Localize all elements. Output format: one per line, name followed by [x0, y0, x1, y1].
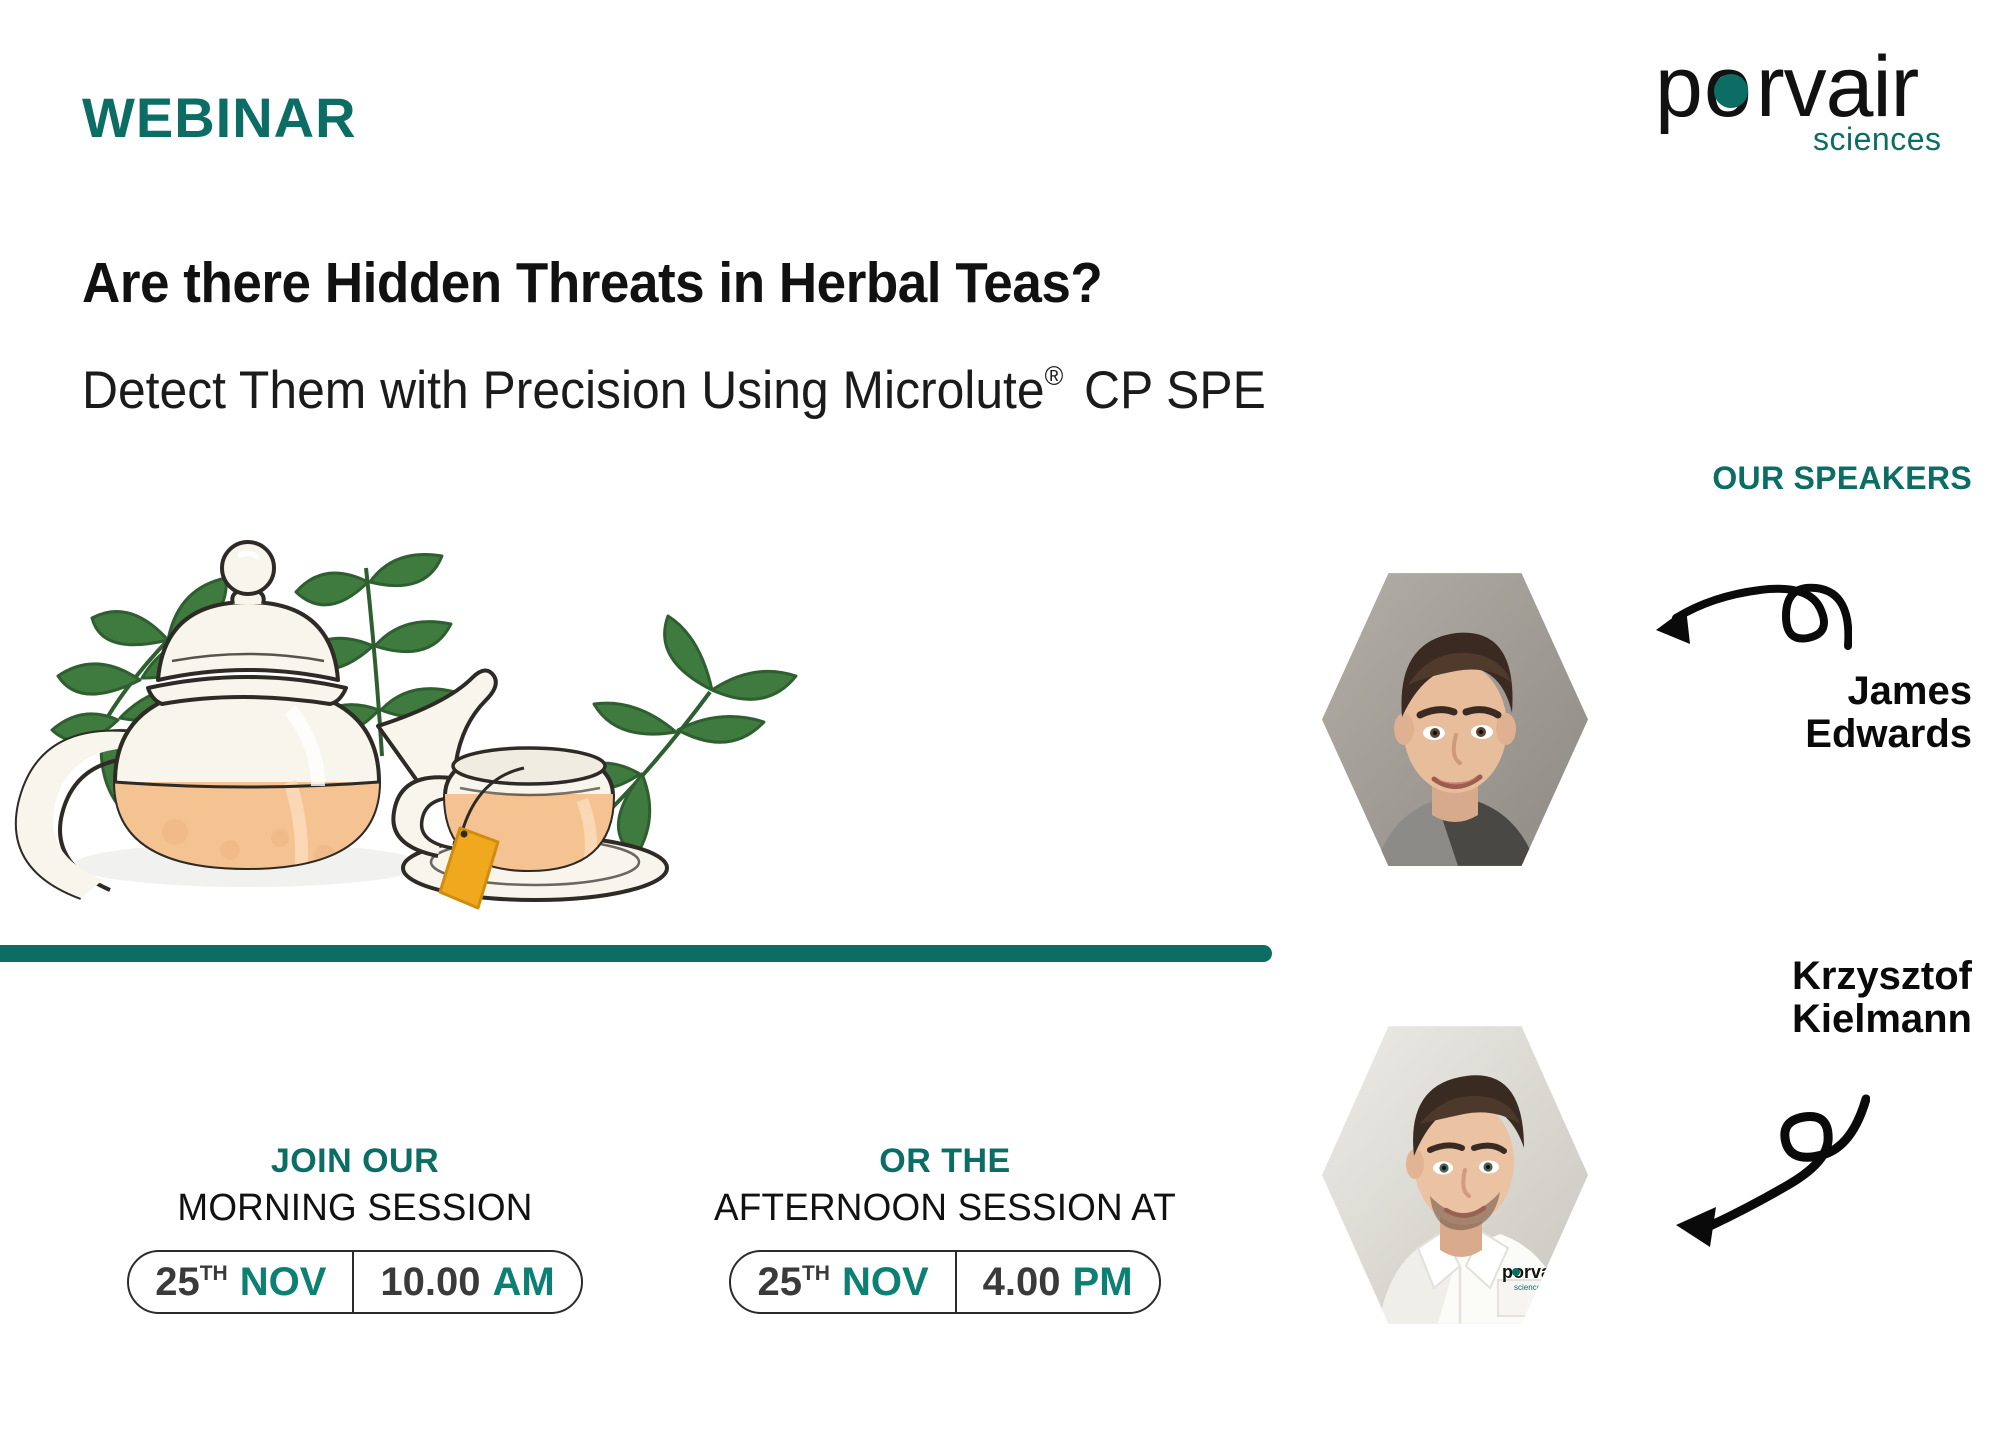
speakers-section-label: OUR SPEAKERS: [1712, 460, 1972, 497]
session-datetime-afternoon[interactable]: 25THNOV 4.00PM: [729, 1250, 1160, 1314]
session-date-morning[interactable]: 25THNOV: [129, 1252, 352, 1312]
session-name-morning: MORNING SESSION: [103, 1185, 607, 1233]
session-name-afternoon: AFTERNOON SESSION AT: [693, 1185, 1197, 1233]
session-morning: JOIN OUR MORNING SESSION 25THNOV 10.00AM: [95, 1140, 615, 1314]
session-time-afternoon[interactable]: 4.00PM: [955, 1252, 1159, 1312]
speaker-photo-james: [1322, 567, 1588, 872]
date-day: 25: [757, 1260, 802, 1305]
session-afternoon: OR THE AFTERNOON SESSION AT 25THNOV 4.00…: [685, 1140, 1205, 1314]
time-meridiem: PM: [1073, 1260, 1133, 1305]
date-month: NOV: [842, 1260, 929, 1305]
session-time-morning[interactable]: 10.00AM: [352, 1252, 580, 1312]
date-day: 25: [155, 1260, 200, 1305]
session-datetime-morning[interactable]: 25THNOV 10.00AM: [127, 1250, 583, 1314]
page-title: Are there Hidden Threats in Herbal Teas?: [82, 250, 1102, 316]
speaker-photo-krzysztof: porvair sciences: [1322, 1020, 1588, 1330]
subtitle-text: Detect Them with Precision Using Microlu…: [82, 361, 1045, 420]
date-ordinal: TH: [802, 1262, 830, 1286]
subtitle-suffix: CP SPE: [1084, 361, 1266, 420]
time-value: 10.00: [380, 1260, 480, 1305]
teal-divider: [0, 945, 1272, 962]
page-subtitle: Detect Them with Precision Using Microlu…: [82, 360, 1266, 421]
session-lead-afternoon: OR THE: [685, 1140, 1205, 1183]
time-meridiem: AM: [493, 1260, 555, 1305]
tea-illustration: [0, 520, 1000, 970]
cup-rim: [453, 748, 605, 784]
session-date-afternoon[interactable]: 25THNOV: [731, 1252, 954, 1312]
date-ordinal: TH: [200, 1262, 228, 1286]
svg-text:sciences: sciences: [1514, 1283, 1545, 1292]
date-month: NOV: [240, 1260, 327, 1305]
poster-canvas: WEBINAR p o rvair sciences Are there Hid…: [0, 0, 2000, 1436]
speaker-name-krzysztof: Krzysztof Kielmann: [1792, 955, 1972, 1041]
svg-text:p: p: [1655, 39, 1702, 135]
svg-text:sciences: sciences: [1813, 121, 1942, 157]
curly-arrow-top: [1652, 570, 1852, 690]
curly-arrow-bottom: [1640, 1085, 1870, 1255]
porvair-logo: p o rvair sciences: [1655, 38, 1965, 158]
teapot-knob: [222, 542, 274, 594]
time-value: 4.00: [983, 1260, 1061, 1305]
registered-mark: ®: [1045, 361, 1064, 391]
svg-text:porvair: porvair: [1502, 1262, 1563, 1282]
logo-dot: [1714, 74, 1748, 108]
session-lead-morning: JOIN OUR: [95, 1140, 615, 1183]
webinar-kicker: WEBINAR: [82, 85, 357, 150]
